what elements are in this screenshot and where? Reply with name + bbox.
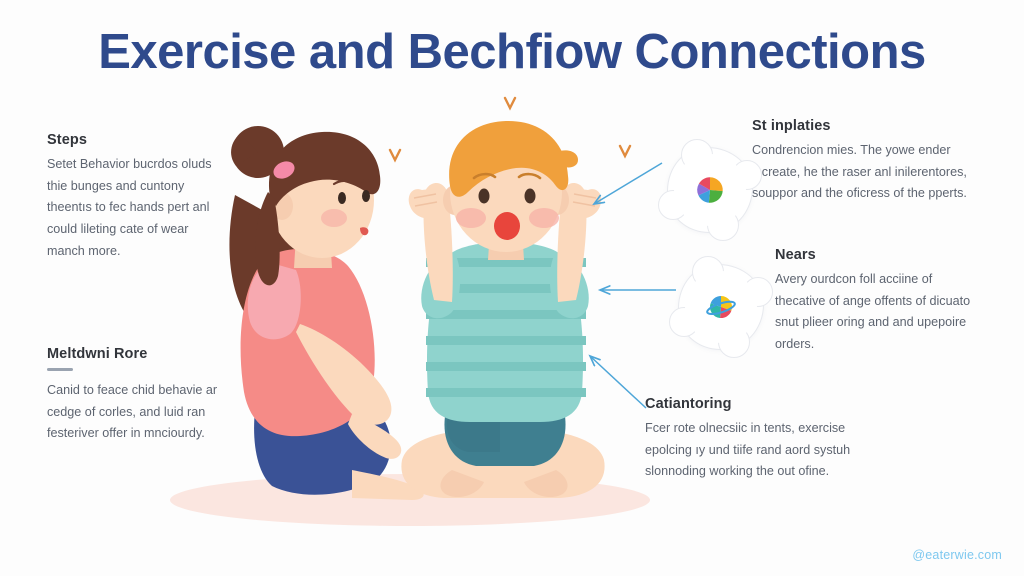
pie-chart-icon: [693, 173, 727, 207]
text-block-monitoring: Catiantoring Fcer rote olnecsiic in tent…: [645, 396, 860, 483]
heading-divider: [47, 368, 73, 371]
text-block-nears: Nears Avery ourdcon foll acciine of thec…: [775, 247, 975, 356]
planet-ring-icon: [704, 290, 738, 324]
body-monitoring: Fcer rote olnecsiic in tents, exercise e…: [645, 418, 860, 483]
icon-badge-pie: [667, 147, 753, 233]
heading-meltdown: Meltdwni Rore: [47, 346, 223, 362]
heading-nears: Nears: [775, 247, 975, 263]
heading-implaties: St inplaties: [752, 118, 967, 134]
girl-sitting: [229, 126, 423, 500]
arrow-to-boy-lower: [590, 356, 646, 408]
boy-mouth: [494, 212, 520, 240]
text-block-meltdown: Meltdwni Rore Canid to feace chid behavi…: [47, 346, 223, 445]
text-block-steps: Steps Setet Behavior bucrdos oluds thie …: [47, 132, 223, 262]
body-steps: Setet Behavior bucrdos oluds thie bunges…: [47, 154, 223, 262]
heading-monitoring: Catiantoring: [645, 396, 860, 412]
arrow-to-boy-upper: [594, 163, 662, 204]
body-nears: Avery ourdcon foll acciine of thecative …: [775, 269, 975, 356]
icon-badge-planet: [678, 264, 764, 350]
boy-sitting-arms-raised: [401, 121, 604, 498]
body-implaties: Condrencion mies. The yowe ender increat…: [752, 140, 967, 205]
body-meltdown: Canid to feace chid behavie ar cedge of …: [47, 380, 223, 445]
heading-steps: Steps: [47, 132, 223, 148]
text-block-implaties: St inplaties Condrencion mies. The yowe …: [752, 118, 967, 205]
infographic-canvas: Exercise and Bechfiow Connections: [0, 0, 1024, 576]
watermark: @eaterwie.com: [912, 548, 1002, 562]
